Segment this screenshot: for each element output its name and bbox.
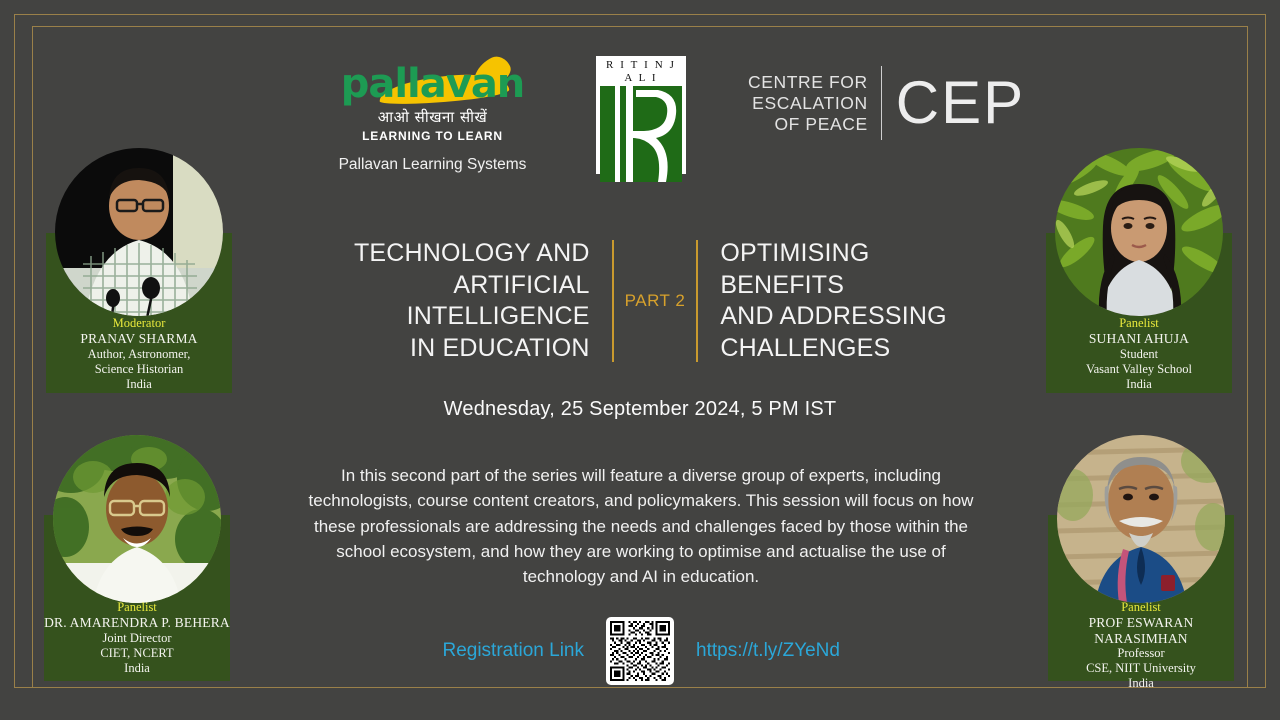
person-role: Panelist xyxy=(1046,316,1232,331)
pallavan-english-tagline: LEARNING TO LEARN xyxy=(330,129,535,143)
cep-abbreviation: CEP xyxy=(882,72,1025,134)
person-details: Panelist PROF ESWARAN NARASIMHAN Profess… xyxy=(1048,600,1234,691)
title-left-line-1: TECHNOLOGY AND xyxy=(272,238,590,270)
person-title-line-1: Student xyxy=(1046,347,1232,362)
webinar-poster: pallavan आओ सीखना सीखें LEARNING TO LEAR… xyxy=(0,0,1280,720)
ritinjali-monogram-icon xyxy=(600,86,682,182)
person-role: Moderator xyxy=(46,316,232,331)
ritinjali-logo: R I T I N J A L I xyxy=(596,56,686,174)
part-badge: PART 2 xyxy=(614,291,697,311)
person-country: India xyxy=(1048,676,1234,691)
person-title-line-2: Vasant Valley School xyxy=(1046,362,1232,377)
pallavan-wordmark-text: pallavan xyxy=(341,61,525,107)
person-title-line-1: Author, Astronomer, xyxy=(46,347,232,362)
person-name: PROF ESWARAN NARASIMHAN xyxy=(1048,615,1234,646)
person-title-line-2: CSE, NIIT University xyxy=(1048,661,1234,676)
cep-full-name: CENTRE FOR ESCALATION OF PEACE xyxy=(748,72,881,135)
title-left-line-2: ARTIFICIAL INTELLIGENCE xyxy=(272,270,590,333)
pallavan-hindi-tagline: आओ सीखना सीखें xyxy=(330,107,535,127)
person-country: India xyxy=(1046,377,1232,392)
pallavan-caption: Pallavan Learning Systems xyxy=(330,156,535,174)
person-title-line-1: Professor xyxy=(1048,646,1234,661)
pallavan-logo: pallavan आओ सीखना सीखें LEARNING TO LEAR… xyxy=(330,62,535,174)
title-right-line-2: AND ADDRESSING xyxy=(720,301,998,333)
cep-line-1: CENTRE FOR xyxy=(748,72,868,93)
person-title-line-2: CIET, NCERT xyxy=(44,646,230,661)
title-right-block: OPTIMISING BENEFITS AND ADDRESSING CHALL… xyxy=(698,238,998,364)
person-details: Panelist DR. AMARENDRA P. BEHERA Joint D… xyxy=(44,600,230,676)
person-details: Moderator PRANAV SHARMA Author, Astronom… xyxy=(46,316,232,392)
cep-line-3: OF PEACE xyxy=(748,114,868,135)
page-title: TECHNOLOGY AND ARTIFICIAL INTELLIGENCE I… xyxy=(265,238,1005,364)
event-description: In this second part of the series will f… xyxy=(295,463,987,589)
person-name: DR. AMARENDRA P. BEHERA xyxy=(44,615,230,631)
person-country: India xyxy=(46,377,232,392)
title-right-line-1: OPTIMISING BENEFITS xyxy=(720,238,998,301)
cep-line-2: ESCALATION xyxy=(748,93,868,114)
ritinjali-name: R I T I N J A L I xyxy=(600,59,682,85)
avatar xyxy=(1057,435,1225,603)
title-left-line-3: IN EDUCATION xyxy=(272,333,590,365)
registration-url[interactable]: https://t.ly/ZYeNd xyxy=(674,640,874,662)
person-role: Panelist xyxy=(1048,600,1234,615)
pallavan-wordmark: pallavan xyxy=(341,62,525,106)
qr-code[interactable] xyxy=(606,617,674,685)
title-left-block: TECHNOLOGY AND ARTIFICIAL INTELLIGENCE I… xyxy=(272,238,612,364)
title-right-line-3: CHALLENGES xyxy=(720,333,998,365)
registration-label: Registration Link xyxy=(406,640,606,662)
person-country: India xyxy=(44,661,230,676)
person-name: SUHANI AHUJA xyxy=(1046,331,1232,347)
person-details: Panelist SUHANI AHUJA Student Vasant Val… xyxy=(1046,316,1232,392)
event-datetime: Wednesday, 25 September 2024, 5 PM IST xyxy=(0,398,1280,421)
avatar xyxy=(55,148,223,316)
person-name: PRANAV SHARMA xyxy=(46,331,232,347)
person-title-line-1: Joint Director xyxy=(44,631,230,646)
person-role: Panelist xyxy=(44,600,230,615)
cep-logo: CENTRE FOR ESCALATION OF PEACE CEP xyxy=(748,66,1025,140)
avatar xyxy=(53,435,221,603)
avatar xyxy=(1055,148,1223,316)
person-title-line-2: Science Historian xyxy=(46,362,232,377)
